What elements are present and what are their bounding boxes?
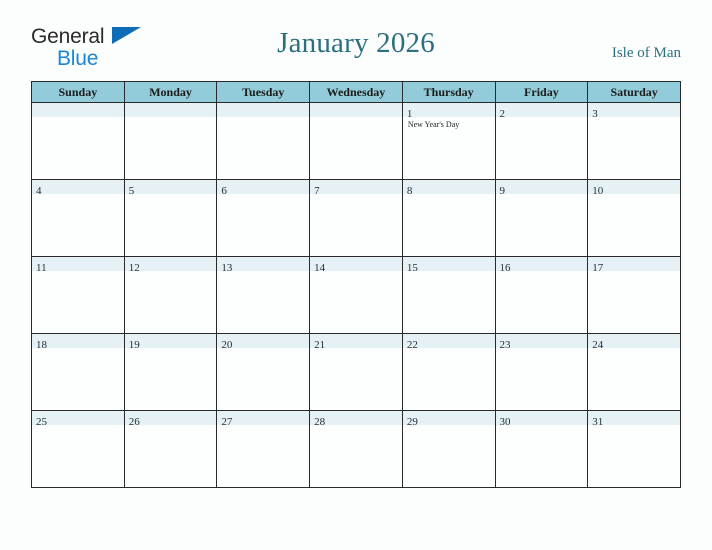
day-number: 6 [221,185,227,197]
day-number: 26 [129,416,140,428]
calendar-day-cell[interactable]: 14 [310,257,403,334]
day-number: 13 [221,262,232,274]
day-number-strip: 28 [310,411,402,425]
day-cell-inner [32,103,124,179]
calendar-week-row: 25262728293031 [32,411,681,488]
day-number-strip: 15 [403,257,495,271]
calendar-header-row-group: Sunday Monday Tuesday Wednesday Thursday… [32,82,681,103]
calendar-day-cell[interactable]: 17 [588,257,681,334]
day-number: 30 [500,416,511,428]
day-number: 21 [314,339,325,351]
page-title: January 2026 [0,27,712,60]
day-number: 25 [36,416,47,428]
day-cell-inner: 23 [496,334,588,410]
day-events: New Year's Day [403,117,495,130]
day-cell-inner: 11 [32,257,124,333]
calendar-day-cell[interactable]: 3 [588,103,681,180]
day-cell-inner: 7 [310,180,402,256]
day-number-strip: 17 [588,257,680,271]
day-number-strip: 14 [310,257,402,271]
day-number-strip: 7 [310,180,402,194]
day-number: 22 [407,339,418,351]
day-cell-inner [217,103,309,179]
day-cell-inner: 4 [32,180,124,256]
calendar-empty-cell[interactable] [217,103,310,180]
day-cell-inner: 27 [217,411,309,487]
calendar-day-cell[interactable]: 18 [32,334,125,411]
day-cell-inner: 13 [217,257,309,333]
day-number: 23 [500,339,511,351]
day-number-strip: 1 [403,103,495,117]
calendar-week-row: 18192021222324 [32,334,681,411]
day-number: 9 [500,185,506,197]
calendar-day-cell[interactable]: 2 [495,103,588,180]
day-events [32,117,124,120]
day-number: 17 [592,262,603,274]
day-cell-inner: 24 [588,334,680,410]
day-cell-inner: 18 [32,334,124,410]
day-number: 27 [221,416,232,428]
calendar-day-cell[interactable]: 31 [588,411,681,488]
day-number: 18 [36,339,47,351]
calendar-week-row: 11121314151617 [32,257,681,334]
calendar-day-cell[interactable]: 8 [402,180,495,257]
day-number: 24 [592,339,603,351]
day-events [588,117,680,120]
day-number: 5 [129,185,135,197]
day-cell-inner: 16 [496,257,588,333]
calendar-day-cell[interactable]: 9 [495,180,588,257]
day-number-strip [32,103,124,117]
day-number-strip: 19 [125,334,217,348]
day-cell-inner: 2 [496,103,588,179]
calendar-empty-cell[interactable] [124,103,217,180]
calendar-day-cell[interactable]: 23 [495,334,588,411]
calendar-day-cell[interactable]: 13 [217,257,310,334]
calendar-day-cell[interactable]: 7 [310,180,403,257]
day-number: 3 [592,108,598,120]
day-number-strip: 27 [217,411,309,425]
day-number: 1 [407,108,413,120]
day-events [496,194,588,197]
weekday-header-thursday: Thursday [402,82,495,103]
day-events [125,194,217,197]
day-number: 19 [129,339,140,351]
day-cell-inner: 1New Year's Day [403,103,495,179]
day-events [310,117,402,120]
calendar-day-cell[interactable]: 15 [402,257,495,334]
day-number-strip: 5 [125,180,217,194]
day-number: 4 [36,185,42,197]
weekday-header-wednesday: Wednesday [310,82,403,103]
calendar-day-cell[interactable]: 1New Year's Day [402,103,495,180]
weekday-header-friday: Friday [495,82,588,103]
day-cell-inner: 8 [403,180,495,256]
day-number: 15 [407,262,418,274]
day-number: 14 [314,262,325,274]
day-number-strip: 3 [588,103,680,117]
day-number-strip: 18 [32,334,124,348]
day-number: 28 [314,416,325,428]
event-label[interactable]: New Year's Day [408,120,492,130]
calendar-day-cell[interactable]: 6 [217,180,310,257]
calendar-day-cell[interactable]: 12 [124,257,217,334]
calendar-week-row: 45678910 [32,180,681,257]
day-number-strip: 6 [217,180,309,194]
day-number-strip: 13 [217,257,309,271]
calendar-day-cell[interactable]: 19 [124,334,217,411]
day-number-strip [125,103,217,117]
calendar-day-cell[interactable]: 28 [310,411,403,488]
page-header: General Blue January 2026 Isle of Man [0,0,712,80]
day-events [403,194,495,197]
day-cell-inner [310,103,402,179]
calendar-day-cell[interactable]: 24 [588,334,681,411]
day-number-strip: 24 [588,334,680,348]
day-cell-inner: 3 [588,103,680,179]
day-events [217,117,309,120]
calendar-day-cell[interactable]: 22 [402,334,495,411]
day-cell-inner: 22 [403,334,495,410]
day-cell-inner: 6 [217,180,309,256]
day-number: 8 [407,185,413,197]
day-number-strip [310,103,402,117]
day-cell-inner: 21 [310,334,402,410]
day-cell-inner: 20 [217,334,309,410]
day-cell-inner: 14 [310,257,402,333]
calendar-day-cell[interactable]: 5 [124,180,217,257]
location-label: Isle of Man [612,45,681,62]
weekday-header-sunday: Sunday [32,82,125,103]
day-number-strip: 20 [217,334,309,348]
day-cell-inner: 26 [125,411,217,487]
day-cell-inner: 15 [403,257,495,333]
day-number: 29 [407,416,418,428]
day-number: 2 [500,108,506,120]
day-number: 10 [592,185,603,197]
day-events [217,194,309,197]
calendar-day-cell[interactable]: 21 [310,334,403,411]
day-number-strip: 22 [403,334,495,348]
day-number: 16 [500,262,511,274]
day-events [32,194,124,197]
day-number: 20 [221,339,232,351]
calendar-table: Sunday Monday Tuesday Wednesday Thursday… [31,81,681,488]
calendar-page: General Blue January 2026 Isle of Man Su… [0,0,712,550]
day-events [310,194,402,197]
day-number-strip: 30 [496,411,588,425]
day-number-strip: 31 [588,411,680,425]
calendar-day-cell[interactable]: 4 [32,180,125,257]
day-number: 31 [592,416,603,428]
day-number-strip: 23 [496,334,588,348]
calendar-empty-cell[interactable] [32,103,125,180]
day-number-strip: 12 [125,257,217,271]
day-cell-inner: 5 [125,180,217,256]
day-number-strip: 4 [32,180,124,194]
day-number-strip [217,103,309,117]
day-cell-inner: 17 [588,257,680,333]
calendar-empty-cell[interactable] [310,103,403,180]
weekday-header-tuesday: Tuesday [217,82,310,103]
calendar-day-cell[interactable]: 20 [217,334,310,411]
day-cell-inner: 19 [125,334,217,410]
calendar-day-cell[interactable]: 10 [588,180,681,257]
day-cell-inner: 10 [588,180,680,256]
day-cell-inner: 25 [32,411,124,487]
calendar-weekday-header-row: Sunday Monday Tuesday Wednesday Thursday… [32,82,681,103]
day-number-strip: 8 [403,180,495,194]
calendar-day-cell[interactable]: 30 [495,411,588,488]
weekday-header-saturday: Saturday [588,82,681,103]
weekday-header-monday: Monday [124,82,217,103]
day-cell-inner: 29 [403,411,495,487]
calendar-week-row: 1New Year's Day23 [32,103,681,180]
day-number: 12 [129,262,140,274]
day-number-strip: 9 [496,180,588,194]
day-number-strip: 25 [32,411,124,425]
day-number: 11 [36,262,47,274]
calendar-day-cell[interactable]: 16 [495,257,588,334]
day-cell-inner [125,103,217,179]
calendar-day-cell[interactable]: 27 [217,411,310,488]
day-cell-inner: 30 [496,411,588,487]
day-number-strip: 10 [588,180,680,194]
day-number-strip: 29 [403,411,495,425]
day-number-strip: 11 [32,257,124,271]
day-number-strip: 2 [496,103,588,117]
day-cell-inner: 9 [496,180,588,256]
day-cell-inner: 31 [588,411,680,487]
day-events [496,117,588,120]
calendar-day-cell[interactable]: 26 [124,411,217,488]
day-number-strip: 21 [310,334,402,348]
day-number-strip: 26 [125,411,217,425]
calendar-day-cell[interactable]: 25 [32,411,125,488]
day-number: 7 [314,185,320,197]
calendar-body: 1New Year's Day2345678910111213141516171… [32,103,681,488]
day-events [125,117,217,120]
day-cell-inner: 12 [125,257,217,333]
calendar-day-cell[interactable]: 29 [402,411,495,488]
day-number-strip: 16 [496,257,588,271]
calendar-day-cell[interactable]: 11 [32,257,125,334]
day-cell-inner: 28 [310,411,402,487]
